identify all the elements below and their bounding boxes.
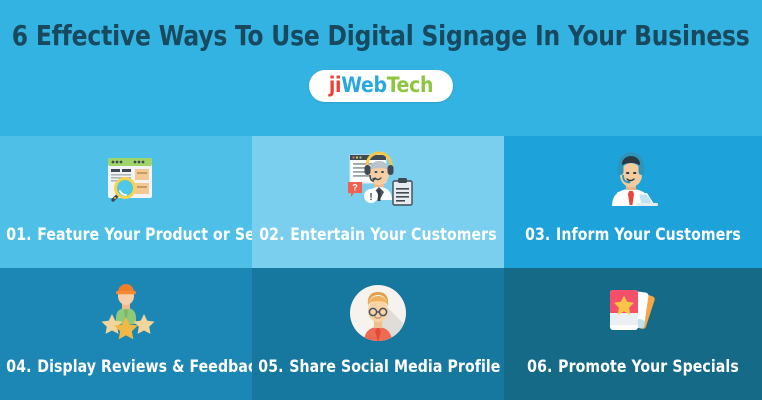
svg-text:!: ! (369, 192, 372, 203)
card-label: Entertain Your Customers (290, 225, 496, 244)
card-number: 04. (6, 357, 31, 376)
card-caption: 05.Share Social Media Profile (258, 357, 497, 376)
jiwebtech-logo[interactable]: ji Web Tech (309, 70, 453, 102)
logo-part-web: Web (341, 75, 387, 96)
browser-window-magnifier-icon (91, 150, 161, 212)
card-feature-your-product-or-service[interactable]: 01.Feature Your Product or Service (0, 136, 252, 268)
call-center-agent-laptop-icon: ! (598, 150, 668, 212)
card-entertain-your-customers[interactable]: ? ! 02.Entertain Your Customers (252, 136, 504, 268)
card-number: 01. (6, 225, 31, 244)
card-label: Feature Your Product or Service (37, 225, 252, 244)
card-label: Inform Your Customers (556, 225, 741, 244)
infographic-root: 6 Effective Ways To Use Digital Signage … (0, 0, 762, 400)
card-caption: 01.Feature Your Product or Service (6, 225, 245, 244)
card-number: 03. (525, 225, 550, 244)
card-inform-your-customers[interactable]: ! 03.Inform Your Customers (504, 136, 762, 268)
card-display-reviews-and-feedback[interactable]: 04.Display Reviews & Feedback (0, 268, 252, 400)
card-caption: 02.Entertain Your Customers (258, 225, 497, 244)
card-caption: 06.Promote Your Specials (510, 357, 755, 376)
card-grid: 01.Feature Your Product or Service (0, 136, 762, 400)
card-number: 02. (259, 225, 284, 244)
card-label: Promote Your Specials (558, 357, 739, 376)
card-caption: 03.Inform Your Customers (510, 225, 755, 244)
svg-text:?: ? (352, 183, 358, 193)
card-caption: 04.Display Reviews & Feedback (6, 357, 245, 376)
page-title: 6 Effective Ways To Use Digital Signage … (12, 0, 750, 50)
round-avatar-profile-icon (347, 282, 409, 344)
support-agent-headset-clipboard-icon: ? ! (340, 150, 416, 212)
svg-text:!: ! (616, 189, 621, 206)
card-share-social-media-profile[interactable]: 05.Share Social Media Profile (252, 268, 504, 400)
stacked-cards-star-icon (600, 282, 666, 344)
card-promote-your-specials[interactable]: 06.Promote Your Specials (504, 268, 762, 400)
logo-part-ji: ji (329, 75, 341, 96)
card-number: 05. (258, 357, 283, 376)
header-banner: 6 Effective Ways To Use Digital Signage … (0, 0, 762, 136)
card-label: Share Social Media Profile (289, 357, 500, 376)
card-number: 06. (527, 357, 552, 376)
person-three-stars-icon (89, 282, 163, 344)
card-label: Display Reviews & Feedback (37, 357, 252, 376)
logo-part-tech: Tech (387, 75, 433, 96)
